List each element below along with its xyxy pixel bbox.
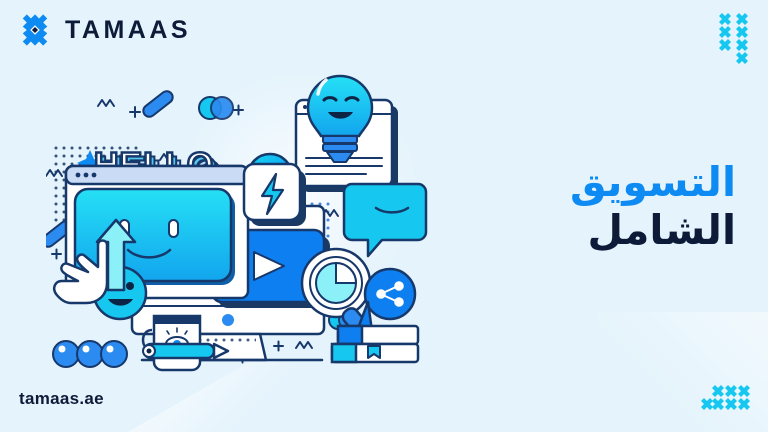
- lightning-bolt-icon: [244, 164, 306, 226]
- share-network-icon: [365, 269, 415, 319]
- bottom-right-dot-cluster: [698, 384, 750, 410]
- promo-banner: TAMAAS التسويق الشامل tamaas.ae: [0, 0, 768, 432]
- footer-website-url: tamaas.ae: [19, 389, 104, 409]
- brand-wordmark: TAMAAS: [65, 18, 191, 43]
- sphere-row: [53, 341, 127, 367]
- tamaas-diamond-logo-icon: [18, 13, 52, 47]
- headline: التسويق الشامل: [436, 160, 736, 254]
- marketing-collage-illustration: HELLO HELLO HELLO: [46, 58, 456, 378]
- pencil-icon: [143, 344, 228, 358]
- headline-line-1: التسويق: [436, 160, 736, 206]
- stacked-books-icon: [332, 326, 418, 362]
- background-watermark-right: [598, 312, 768, 432]
- top-right-dot-cluster: [716, 12, 750, 64]
- brand-header: TAMAAS: [18, 13, 191, 47]
- headline-line-2: الشامل: [436, 208, 736, 254]
- speech-bubble-smile-icon: [344, 184, 426, 256]
